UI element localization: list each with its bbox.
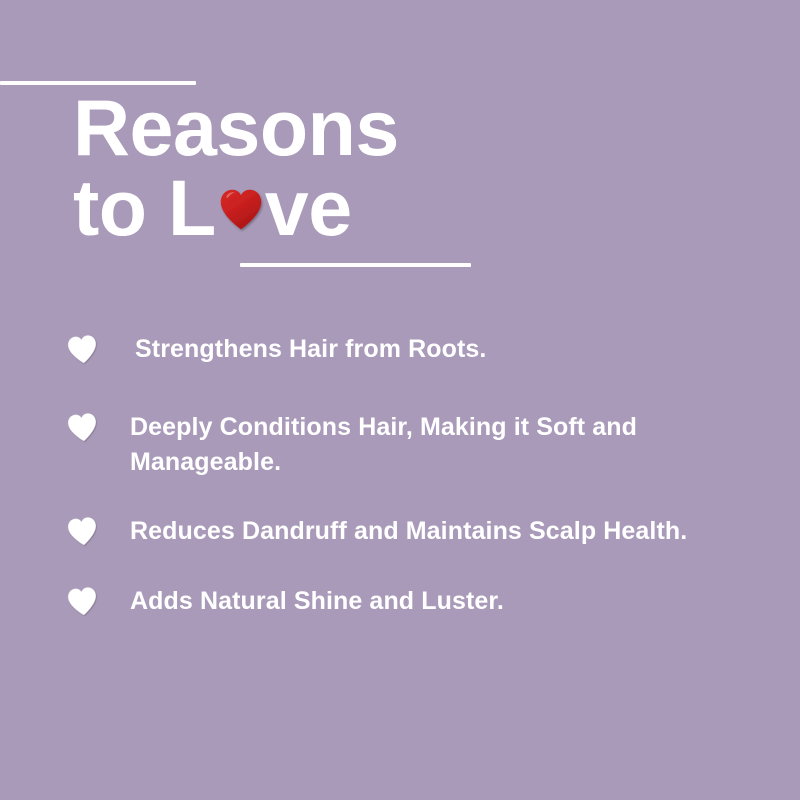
list-item: Deeply Conditions Hair, Making it Soft a… (0, 410, 800, 480)
title-underline-rule (240, 263, 471, 267)
title-line-two: to L ve (73, 172, 352, 244)
heart-bullet-icon (66, 516, 99, 547)
list-item: Strengthens Hair from Roots. (0, 332, 800, 367)
heart-bullet-icon (66, 334, 99, 365)
list-item-label: Adds Natural Shine and Luster. (130, 584, 504, 619)
heart-bullet-icon (66, 586, 99, 617)
list-item: Adds Natural Shine and Luster. (0, 584, 800, 619)
list-item-label: Strengthens Hair from Roots. (135, 332, 486, 367)
title-line-two-prefix: to L (73, 172, 216, 244)
title-line-one: Reasons (73, 92, 713, 164)
title-line-two-suffix: ve (265, 172, 352, 244)
heart-bullet-icon (66, 412, 99, 443)
heart-icon (218, 187, 264, 233)
list-item-label: Reduces Dandruff and Maintains Scalp Hea… (130, 514, 687, 549)
promo-poster: Reasons to L (0, 0, 800, 800)
list-item: Reduces Dandruff and Maintains Scalp Hea… (0, 514, 800, 549)
page-title: Reasons to L (73, 92, 713, 244)
list-item-label: Deeply Conditions Hair, Making it Soft a… (130, 410, 640, 480)
